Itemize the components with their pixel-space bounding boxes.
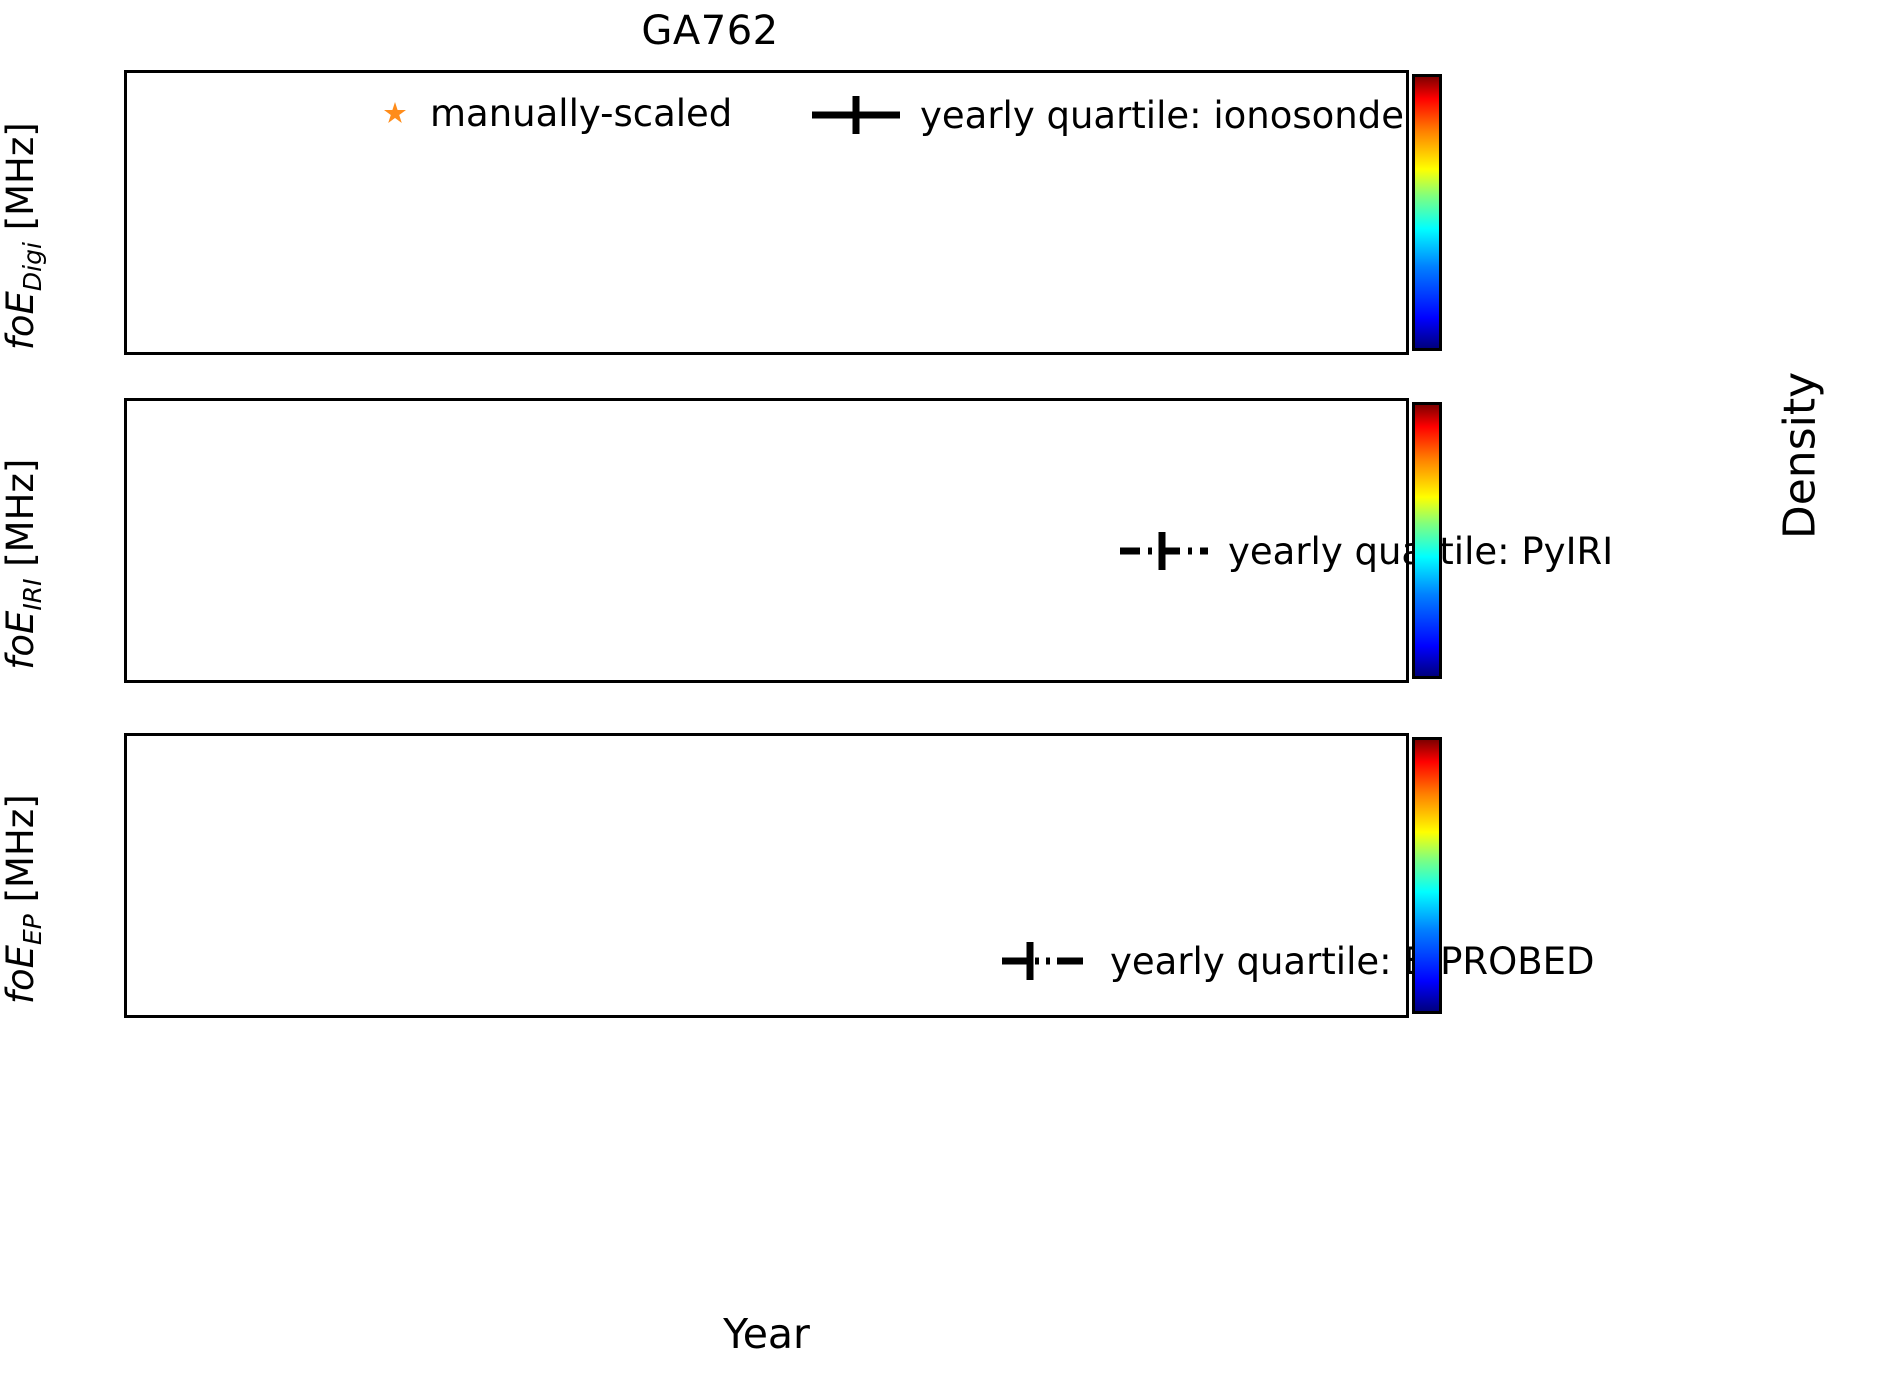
errorbar-dashdotdot-icon: [1000, 938, 1092, 984]
y-axis-label-ep: foEEP [MHz]: [0, 749, 47, 1049]
y-axis-label-ep-main: foE: [0, 945, 42, 1004]
errorbar-dashdot-icon: [1118, 528, 1210, 574]
legend-ionosonde-label: yearly quartile: ionosonde: [920, 94, 1404, 137]
y-axis-label-iri: foEIRI [MHz]: [0, 414, 47, 714]
y-axis-label-iri-main: foE: [0, 611, 42, 670]
colorbar-digi: [1412, 74, 1442, 351]
y-axis-label-digi: foEDigi [MHz]: [0, 86, 47, 386]
legend-manually-scaled-label: manually-scaled: [430, 92, 732, 135]
x-axis-label: Year: [124, 1310, 1409, 1358]
colorbar-title: Density: [1775, 306, 1826, 606]
y-axis-label-digi-main: foE: [0, 291, 42, 350]
y-axis-label-digi-unit: [MHz]: [0, 122, 42, 242]
legend-pyiri: yearly quartile: PyIRI: [1118, 528, 1613, 574]
y-axis-label-digi-sub: Digi: [18, 242, 47, 291]
legend-ionosonde: yearly quartile: ionosonde: [810, 92, 1404, 138]
colorbar-iri: [1412, 402, 1442, 679]
y-axis-label-ep-sub: EP: [18, 914, 47, 945]
page-title: GA762: [0, 8, 1420, 54]
figure-root: GA762 foEDigi [MHz] foEIRI [MHz] foEEP […: [0, 0, 1892, 1390]
y-axis-label-iri-unit: [MHz]: [0, 459, 42, 579]
errorbar-solid-icon: [810, 92, 902, 138]
y-axis-label-ep-unit: [MHz]: [0, 794, 42, 914]
legend-eprobed: yearly quartile: E-PROBED: [1000, 938, 1595, 984]
y-axis-label-iri-sub: IRI: [18, 579, 47, 611]
legend-eprobed-label: yearly quartile: E-PROBED: [1110, 940, 1595, 983]
colorbar-ep: [1412, 737, 1442, 1014]
legend-manually-scaled: manually-scaled: [378, 92, 732, 135]
star-marker-icon: [378, 97, 412, 131]
